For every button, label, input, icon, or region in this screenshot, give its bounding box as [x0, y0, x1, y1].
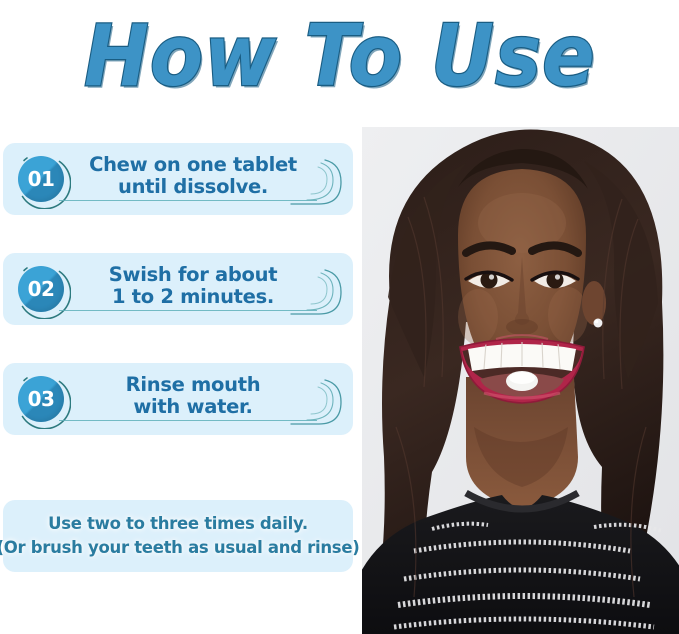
badge-circle: 01	[18, 156, 64, 202]
badge-number: 02	[28, 279, 55, 299]
badge-number: 03	[28, 389, 55, 409]
product-model-photo	[362, 127, 679, 634]
badge-circle: 03	[18, 376, 64, 422]
badge-circle: 02	[18, 266, 64, 312]
step-line-2: with water.	[133, 396, 252, 418]
step-card-03[interactable]: 03 Rinse mouth with water.	[3, 363, 353, 435]
page-header: How To Use	[0, 0, 679, 112]
step-text-02: Swish for about 1 to 2 minutes.	[69, 257, 317, 315]
usage-note-line-1: Use two to three times daily.	[48, 512, 308, 536]
step-underline	[59, 310, 317, 311]
usage-note-line-2: (Or brush your teeth as usual and rinse)	[0, 536, 359, 560]
step-underline	[59, 420, 317, 421]
steps-column: 01 Chew on one tablet until dissolve. 02…	[3, 128, 353, 628]
step-text-03: Rinse mouth with water.	[69, 367, 317, 425]
usage-note-card: Use two to three times daily. (Or brush …	[3, 500, 353, 572]
step-line-1: Rinse mouth	[126, 374, 261, 396]
model-illustration	[362, 127, 679, 634]
step-card-01[interactable]: 01 Chew on one tablet until dissolve.	[3, 143, 353, 215]
step-text-01: Chew on one tablet until dissolve.	[69, 147, 317, 205]
step-line-2: 1 to 2 minutes.	[112, 286, 274, 308]
page-title: How To Use	[84, 13, 596, 98]
step-line-1: Chew on one tablet	[89, 154, 297, 176]
step-line-1: Swish for about	[109, 264, 278, 286]
step-card-02[interactable]: 02 Swish for about 1 to 2 minutes.	[3, 253, 353, 325]
badge-number: 01	[28, 169, 55, 189]
step-underline	[59, 200, 317, 201]
step-line-2: until dissolve.	[118, 176, 268, 198]
